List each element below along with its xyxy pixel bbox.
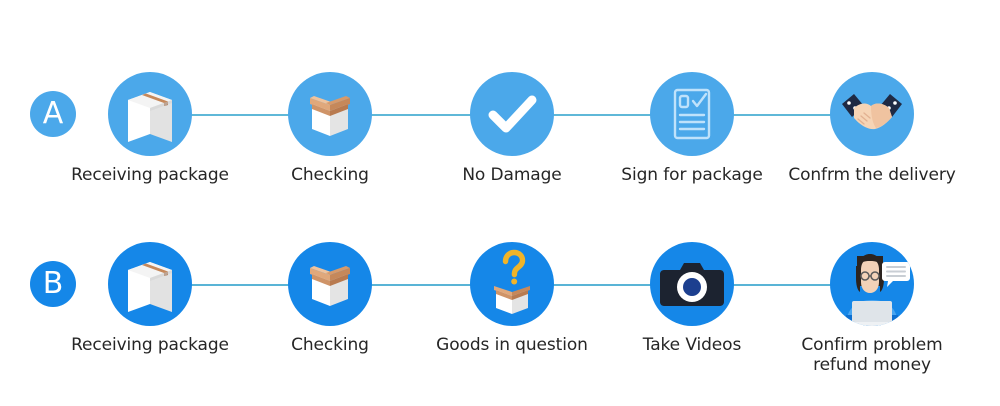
process-row-a: A Receiving package <box>0 48 1000 208</box>
step-label: Sign for package <box>602 165 782 185</box>
step-b-checking[interactable]: Checking <box>240 218 420 355</box>
step-a-confirm-delivery[interactable]: Confrm the delivery <box>782 48 962 185</box>
step-b-receiving-package[interactable]: Receiving package <box>60 218 240 355</box>
open-box-icon <box>288 242 372 326</box>
camera-icon <box>650 242 734 326</box>
checkmark-icon <box>470 72 554 156</box>
process-row-b: B Receiving package <box>0 218 1000 378</box>
step-a-sign-for-package[interactable]: Sign for package <box>602 48 782 185</box>
step-a-checking[interactable]: Checking <box>240 48 420 185</box>
handshake-icon <box>830 72 914 156</box>
step-label: Goods in question <box>422 335 602 355</box>
delivery-process-flow: A Receiving package <box>0 0 1000 406</box>
question-box-icon <box>470 242 554 326</box>
open-box-icon <box>288 72 372 156</box>
step-b-goods-in-question[interactable]: Goods in question <box>422 218 602 355</box>
row-badge-b: B <box>30 261 76 307</box>
step-label: Receiving package <box>60 165 240 185</box>
step-b-confirm-problem-refund[interactable]: Confirm problem refund money <box>782 218 962 375</box>
sealed-package-icon <box>108 72 192 156</box>
sealed-package-icon <box>108 242 192 326</box>
support-agent-icon <box>830 242 914 326</box>
step-label: No Damage <box>422 165 602 185</box>
signature-document-icon <box>650 72 734 156</box>
step-label: Checking <box>240 165 420 185</box>
step-a-no-damage[interactable]: No Damage <box>422 48 602 185</box>
step-label: Confrm the delivery <box>782 165 962 185</box>
step-label: Receiving package <box>60 335 240 355</box>
row-badge-a: A <box>30 91 76 137</box>
step-label: Take Videos <box>602 335 782 355</box>
step-label: Confirm problem refund money <box>782 335 962 375</box>
step-b-take-videos[interactable]: Take Videos <box>602 218 782 355</box>
step-label: Checking <box>240 335 420 355</box>
step-a-receiving-package[interactable]: Receiving package <box>60 48 240 185</box>
